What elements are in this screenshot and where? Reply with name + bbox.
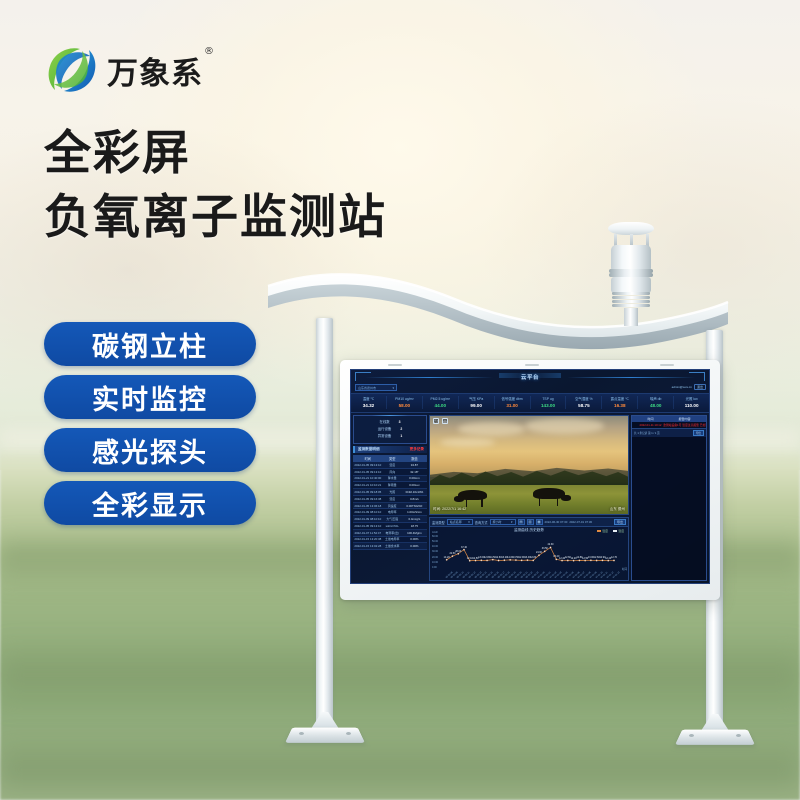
record-time: 2022-01-09 08:10:10 <box>353 509 383 515</box>
record-time: 2022-01-07 11:52:47 <box>353 530 383 536</box>
chart-date-from[interactable]: 2022-06-30 07:30 <box>545 520 568 524</box>
metric-item: 光照 lux110.00 <box>674 396 709 409</box>
alarm-record-count: 共 1 条记录 第 1 / 1 页 <box>634 431 660 435</box>
metric-item: PM2.5 ug/m³44.00 <box>423 396 459 409</box>
metric-item: 空气湿度 %58.75 <box>566 396 602 409</box>
record-type: 风向 <box>383 469 402 475</box>
record-type: 降雨量 <box>383 482 402 488</box>
record-time: 2022-01-05 09:13:10 <box>353 523 383 529</box>
base-flange <box>285 728 365 743</box>
records-column-header: 时间 <box>353 455 383 462</box>
metric-value: 99.00 <box>459 402 494 409</box>
device-stat-label: 异常设备 <box>378 433 392 440</box>
records-table-header: 时间类型数值 <box>353 455 427 462</box>
device-stat-value: 1 <box>400 433 402 440</box>
metric-item: 信号强度 dbm31.00 <box>495 396 531 409</box>
device-stat-row: 异常设备1 <box>356 433 424 440</box>
records-more-link[interactable]: 更多记录 <box>410 447 424 452</box>
records-table-row[interactable]: 2022-01-21 10:40:00降水量0.00mm <box>353 476 427 483</box>
chart-y-tick: 60.00 <box>432 535 438 538</box>
chart-x-unit: 时间 <box>622 567 627 571</box>
right-column: 时间报警内容 2022-01-11 10:12监测站设备1号 温度过高报警 已处… <box>631 415 707 581</box>
record-time: 2022-01-21 10:10:21 <box>353 482 383 488</box>
chart-point-label: 33.50 <box>542 547 548 550</box>
base-plate-left <box>289 712 361 748</box>
metric-value: 34.32 <box>351 402 386 409</box>
device-stat-label: 在线数 <box>379 419 389 426</box>
device-stat-value: 2 <box>400 426 402 433</box>
device-stats-card: 在线数3运行设备2异常设备1 <box>353 415 427 444</box>
chart-y-tick: 40.00 <box>432 545 438 548</box>
chart-filter-label-2: 查询方式 <box>475 520 488 525</box>
video-cloud <box>458 422 525 436</box>
chart-interval-select[interactable]: 按小时 ▾ <box>490 519 516 525</box>
metric-strip: 温度 ℃34.32PM10 ug/m³58.00PM2.5 ug/m³44.00… <box>351 393 709 413</box>
chart-point-label: 37.40 <box>461 546 467 549</box>
video-cow-leg <box>466 499 467 507</box>
record-value: 0.8m/s <box>402 496 427 502</box>
left-column: 在线数3运行设备2异常设备1 监测数据明细 更多记录 时间类型数值 2022-0… <box>353 415 427 581</box>
camera-feed[interactable]: ⛶ ◎ 时间: 2022/7/1 16:42 山东 德州 <box>429 415 629 515</box>
record-type: 电导率(出) <box>383 530 402 536</box>
records-column-header: 类型 <box>383 455 402 462</box>
metric-value: 48.00 <box>638 402 673 409</box>
video-timestamp: 时间: 2022/7/1 16:42 <box>433 507 466 512</box>
video-cloud <box>525 418 604 434</box>
record-type: 风速度 <box>383 503 402 509</box>
chart-legend-item[interactable]: 温度 <box>597 529 608 533</box>
records-panel-title: 监测数据明细 <box>358 447 380 452</box>
radiation-fin <box>612 296 650 299</box>
bolt-hole <box>689 734 694 737</box>
chart-y-tick: 20.00 <box>432 556 438 559</box>
chart-legend-label: 湿度 <box>618 529 624 533</box>
ultrasonic-weather-sensor <box>600 222 662 322</box>
chart-legend-label: 温度 <box>602 529 608 533</box>
chart-bar-view-button[interactable]: ▥ <box>527 519 534 525</box>
chart-legend: 温度湿度 <box>597 529 624 533</box>
bolt-hole <box>299 732 304 735</box>
chart-point-label: 12.80 <box>530 556 536 559</box>
record-value: 0.00Lux <box>402 482 427 488</box>
record-type: 湿度 <box>383 496 402 502</box>
record-value: 100.4Mg/m <box>402 530 427 536</box>
record-value: 18.75 <box>402 523 427 529</box>
chart-point-label: 12.70 <box>611 556 617 559</box>
metric-item: 噪声 db48.00 <box>638 396 674 409</box>
chevron-down-icon: ▾ <box>511 520 513 524</box>
record-value: 1.00mS/cm <box>402 509 427 515</box>
record-type: 土壤电导率 <box>383 537 402 543</box>
bezel-vent <box>525 364 539 366</box>
record-time: 2022-01-05 13:06:18 <box>353 503 383 509</box>
chart-y-tick: 0.00 <box>432 566 438 569</box>
base-flange <box>675 730 755 745</box>
radiation-fin <box>612 292 650 295</box>
bolt-hole <box>346 732 351 735</box>
records-panel-header: 监测数据明细 更多记录 <box>353 446 427 453</box>
records-table-row[interactable]: 2022-01-21 10:10:21降雨量0.00Lux <box>353 482 427 489</box>
chart-plot-area: mm/h 60.0050.0040.0030.0020.0010.000.00 … <box>430 534 628 580</box>
record-type: 光照 <box>383 489 402 495</box>
metric-value: 110.00 <box>674 402 709 409</box>
dashboard-header: 云平台 <box>351 370 709 384</box>
radiation-fin <box>612 304 650 307</box>
alarm-export-button[interactable]: 导出 <box>693 430 704 436</box>
record-type: 降水量 <box>383 476 402 482</box>
chart-toolbar: 监测类型 站点名称 ▾ 查询方式 按小时 ▾ ▤ ▥ <box>430 518 628 527</box>
metric-item: 温度 ℃34.32 <box>351 396 387 409</box>
record-value: 32.18° <box>402 469 427 475</box>
chart-y-tick: 10.00 <box>432 561 438 564</box>
header-rule <box>567 377 695 378</box>
metric-item: TSP ug143.00 <box>531 396 567 409</box>
bezel-vent <box>388 364 402 366</box>
calendar-icon[interactable]: ▦ <box>536 519 543 525</box>
records-table-row[interactable]: 2022-01-15 13:02:28土壤含水率0.00% <box>353 543 427 550</box>
snapshot-icon[interactable]: ◎ <box>442 418 448 424</box>
record-value: 0.00TNG%F <box>402 503 427 509</box>
video-cow-leg <box>539 498 540 506</box>
bezel-vent <box>660 364 674 366</box>
led-screen[interactable]: 云平台 山东省德州市 ▾ admin@wxs.cn 退出 温度 ℃34.32PM… <box>350 369 710 584</box>
metric-value: 58.00 <box>387 402 422 409</box>
video-controls[interactable]: ⛶ ◎ <box>433 418 448 424</box>
chart-station-select[interactable]: 站点名称 ▾ <box>447 519 473 525</box>
metric-item: PM10 ug/m³58.00 <box>387 396 423 409</box>
sensor-body-lower <box>611 277 651 293</box>
device-stat-row: 在线数3 <box>356 419 424 426</box>
chart-interval-value: 按小时 <box>493 520 502 524</box>
chart-y-axis: 60.0050.0040.0030.0020.0010.000.00 <box>432 535 438 569</box>
chart-filter-label-1: 监测类型 <box>432 520 445 525</box>
chart-legend-item[interactable]: 湿度 <box>613 529 624 533</box>
record-value: 34.87 <box>402 462 427 468</box>
video-location: 山东 德州 <box>610 507 625 512</box>
record-time: 2022-01-05 09:13:10 <box>353 462 383 468</box>
region-select[interactable]: 山东省德州市 ▾ <box>355 384 397 391</box>
record-type: 土壤含水率 <box>383 543 402 549</box>
record-time: 2022-01-09 08:10:10 <box>353 516 383 522</box>
metric-value: 16.38 <box>602 402 637 409</box>
video-cow-leg <box>557 498 558 506</box>
records-table-row[interactable]: 2022-01-05 09:13:10ssltrxO%L18.75 <box>353 523 427 530</box>
record-type: 大气压强 <box>383 516 402 522</box>
sensor-body-upper <box>611 245 651 271</box>
records-table-row[interactable]: 2022-01-09 08:10:10电导率1.00mS/cm <box>353 509 427 516</box>
chart-line-view-button[interactable]: ▤ <box>518 519 525 525</box>
record-value: 0.4mcg/L <box>402 516 427 522</box>
fullscreen-icon[interactable]: ⛶ <box>433 418 439 424</box>
sensor-mast <box>624 308 638 326</box>
display-cabinet: 云平台 山东省德州市 ▾ admin@wxs.cn 退出 温度 ℃34.32PM… <box>340 360 720 600</box>
record-time: 2022-01-05 09:16:38 <box>353 496 383 502</box>
records-table-row[interactable]: 2022-01-05 09:18:05光照0192.16x10% <box>353 489 427 496</box>
metric-value: 58.75 <box>566 402 601 409</box>
logout-button[interactable]: 退出 <box>694 384 706 390</box>
trend-chart-panel: 监测类型 站点名称 ▾ 查询方式 按小时 ▾ ▤ ▥ <box>429 517 629 581</box>
base-plate-right <box>679 714 751 750</box>
record-value: 0.00% <box>402 537 427 543</box>
record-type: 电导率 <box>383 509 402 515</box>
records-table-body: 2022-01-05 09:13:10温度34.872022-01-05 09:… <box>353 462 427 550</box>
metric-item: 露点温度 ℃16.38 <box>602 396 638 409</box>
chart-y-tick: 50.00 <box>432 540 438 543</box>
records-table-row[interactable]: 2022-01-05 13:06:18风速度0.00TNG%F <box>353 503 427 510</box>
records-table-row[interactable]: 2022-01-15 13:20:38土壤电导率0.00% <box>353 537 427 544</box>
device-stat-row: 运行设备2 <box>356 426 424 433</box>
video-cow-leg <box>481 499 482 507</box>
chart-point-label: 24.60 <box>536 551 542 554</box>
chart-station-value: 站点名称 <box>450 520 462 524</box>
records-table: 时间类型数值 2022-01-05 09:13:10温度34.872022-01… <box>353 455 427 581</box>
header-bracket-right <box>689 372 705 381</box>
record-value: 0192.16x10% <box>402 489 427 495</box>
record-time: 2022-01-21 10:40:00 <box>353 476 383 482</box>
record-value: 0.00% <box>402 543 427 549</box>
region-select-value: 山东省德州市 <box>358 386 376 390</box>
record-value: 0.00mm <box>402 476 427 482</box>
chevron-down-icon: ▾ <box>392 386 394 390</box>
alarm-panel: 时间报警内容 2022-01-11 10:12监测站设备1号 温度过高报警 已处… <box>631 415 707 581</box>
header-rule <box>365 377 493 378</box>
record-time: 2022-01-05 09:18:05 <box>353 489 383 495</box>
record-type: 温度 <box>383 462 402 468</box>
account-row: 山东省德州市 ▾ admin@wxs.cn 退出 <box>351 384 709 393</box>
radiation-fin <box>612 300 650 303</box>
monitoring-station: 云平台 山东省德州市 ▾ admin@wxs.cn 退出 温度 ℃34.32PM… <box>0 0 800 800</box>
metric-value: 143.00 <box>531 402 566 409</box>
account-info: admin@wxs.cn 退出 <box>672 384 706 390</box>
chart-x-axis: 06-30 0806-30 0906-30 1006-30 1106-30 12… <box>444 569 618 580</box>
metric-value: 31.00 <box>495 402 530 409</box>
record-time: 2022-01-15 13:20:38 <box>353 537 383 543</box>
chart-export-button[interactable]: 导出 <box>614 519 626 525</box>
video-cow-head <box>454 496 464 502</box>
header-decoration <box>499 373 529 378</box>
record-time: 2022-01-15 13:02:28 <box>353 543 383 549</box>
dashboard-body: 在线数3运行设备2异常设备1 监测数据明细 更多记录 时间类型数值 2022-0… <box>351 413 709 583</box>
bolt-hole <box>736 734 741 737</box>
support-post-left <box>316 318 333 728</box>
device-stat-label: 运行设备 <box>378 426 392 433</box>
records-table-row[interactable]: 2022-01-07 11:52:47电导率(出)100.4Mg/m <box>353 530 427 537</box>
records-column-header: 数值 <box>402 455 427 462</box>
chart-point-label: 14.20 <box>444 556 450 559</box>
account-username: admin@wxs.cn <box>672 385 692 389</box>
device-stat-value: 3 <box>399 419 401 426</box>
chart-y-tick: 30.00 <box>432 550 438 553</box>
video-cow-head <box>561 495 571 501</box>
center-column: ⛶ ◎ 时间: 2022/7/1 16:42 山东 德州 监测类型 站点名称 ▾ <box>429 415 629 581</box>
header-decoration <box>531 373 561 378</box>
metric-value: 44.00 <box>423 402 458 409</box>
video-cow <box>533 488 565 500</box>
record-time: 2022-01-05 09:13:10 <box>353 469 383 475</box>
records-table-row[interactable]: 2022-01-05 09:13:10风向32.18° <box>353 469 427 476</box>
records-table-row[interactable]: 2022-01-05 09:13:10温度34.87 <box>353 462 427 469</box>
records-table-row[interactable]: 2022-01-05 09:16:38湿度0.8m/s <box>353 496 427 503</box>
chart-series-canvas <box>444 536 618 569</box>
chevron-down-icon: ▾ <box>468 520 470 524</box>
alarm-panel-footer: 共 1 条记录 第 1 / 1 页 导出 <box>632 428 706 437</box>
chart-point-label: 42.30 <box>548 543 554 546</box>
chart-date-to[interactable]: 2022-07-01 07:30 <box>569 520 592 524</box>
chart-y-unit: mm/h <box>432 531 438 534</box>
record-type: ssltrxO%L <box>383 523 402 529</box>
records-table-row[interactable]: 2022-01-09 08:10:10大气压强0.4mcg/L <box>353 516 427 523</box>
metric-item: 气压 KPa99.00 <box>459 396 495 409</box>
header-bracket-left <box>355 372 371 381</box>
chart-point-label: 28.00 <box>455 550 461 553</box>
